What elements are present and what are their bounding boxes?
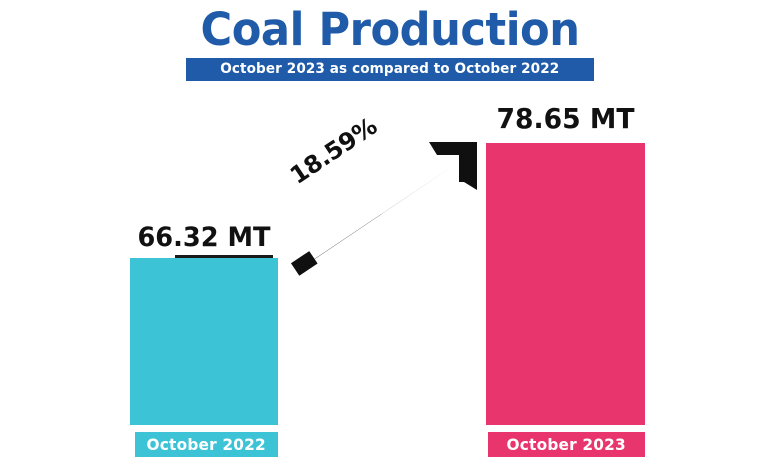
period-chip-2023: October 2023: [488, 432, 645, 457]
period-chip-2022: October 2022: [135, 432, 278, 457]
header: Coal Production October 2023 as compared…: [0, 0, 780, 92]
bar-value-label-2023: 78.65 MT: [490, 102, 641, 135]
subtitle-text: October 2023 as compared to October 2022: [220, 62, 559, 77]
bar-2023: [486, 143, 645, 425]
period-chip-label-2022: October 2022: [147, 436, 266, 453]
period-chip-label-2023: October 2023: [507, 436, 626, 453]
bar-2022: [130, 258, 278, 425]
infographic-canvas: Coal Production October 2023 as compared…: [0, 0, 780, 470]
bar-value-label-2022: 66.32 MT: [134, 222, 275, 254]
page-title: Coal Production: [16, 4, 765, 56]
subtitle-banner: October 2023 as compared to October 2022: [186, 58, 594, 81]
